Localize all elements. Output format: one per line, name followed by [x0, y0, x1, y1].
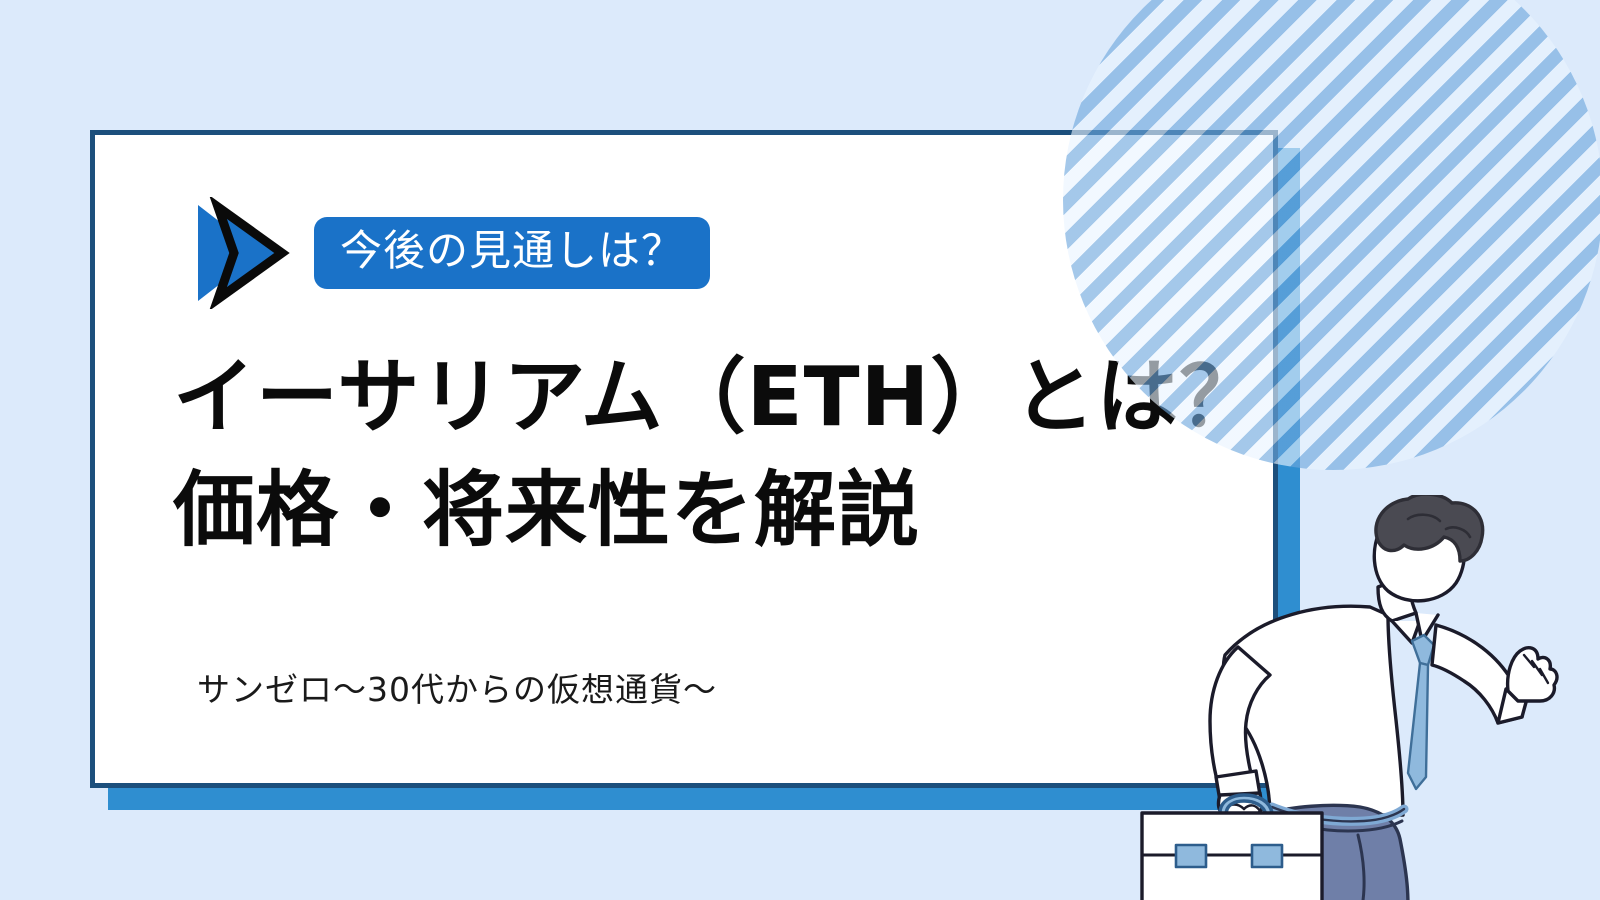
page-title: イーサリアム（ETH）とは？ 価格・将来性を解説: [173, 341, 1262, 567]
title-line-2: 価格・将来性を解説: [173, 454, 1262, 567]
title-line-1: イーサリアム（ETH）とは？: [173, 341, 1262, 454]
badge-row: 今後の見通しは？: [190, 197, 710, 309]
content-card: 今後の見通しは？ イーサリアム（ETH）とは？ 価格・将来性を解説 サンゼロ〜3…: [90, 130, 1278, 788]
businessman-with-briefcase-illustration: [1120, 495, 1600, 900]
double-chevron-right-icon: [190, 197, 308, 309]
badge-label: 今後の見通しは？: [314, 217, 710, 289]
subtitle-text: サンゼロ〜30代からの仮想通貨〜: [197, 663, 717, 711]
thumbnail-canvas: 今後の見通しは？ イーサリアム（ETH）とは？ 価格・将来性を解説 サンゼロ〜3…: [0, 0, 1600, 900]
